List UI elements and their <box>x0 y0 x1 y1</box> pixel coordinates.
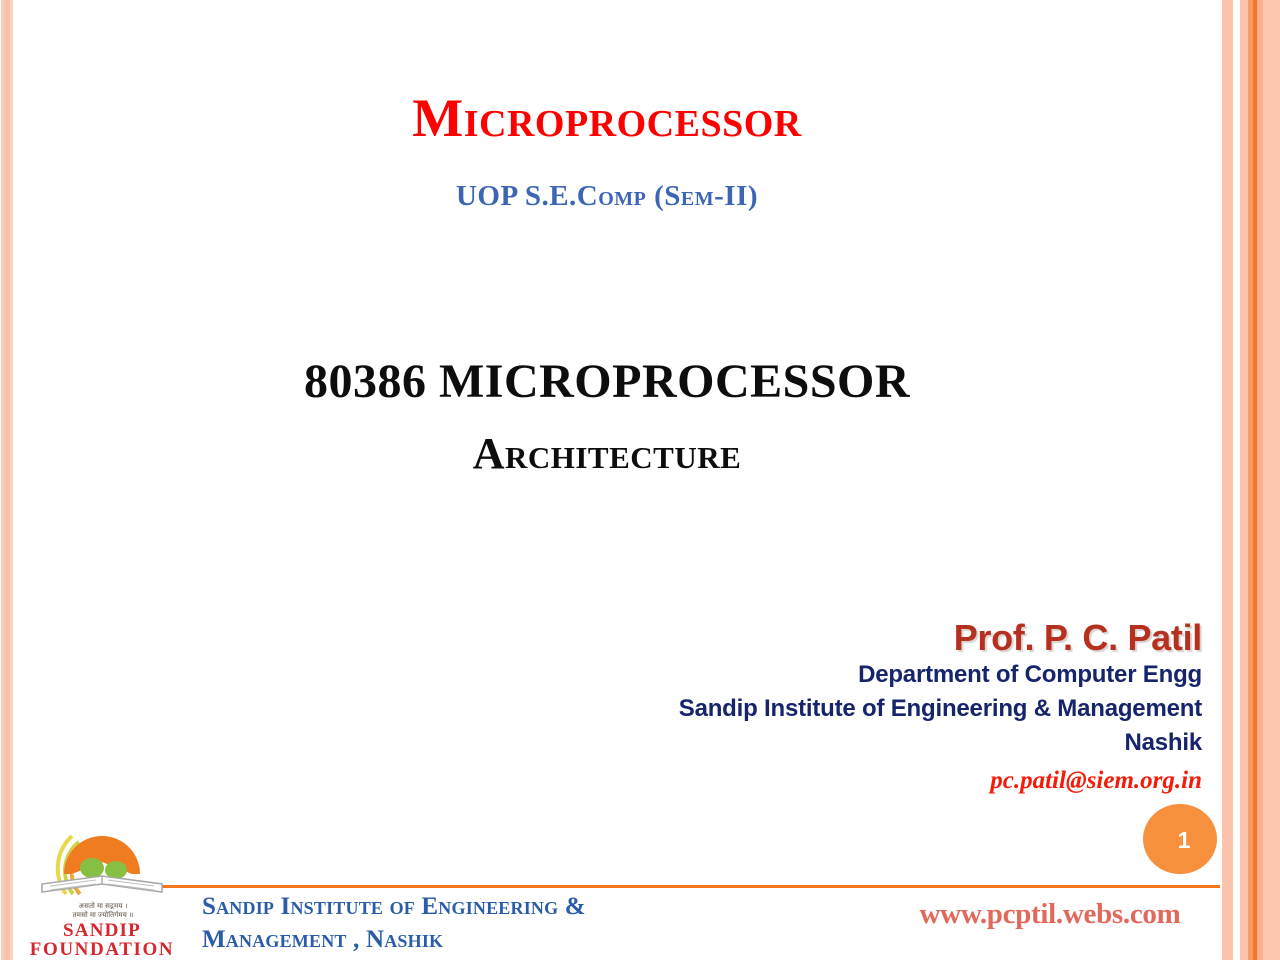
page-number-value: 1 <box>1170 825 1191 854</box>
topic-heading-line-1: 80386 MICROPROCESSOR <box>0 354 1214 409</box>
logo-sanskrit-motto: असतो मा सद्गमय । तमसो मा ज्योतिर्गमय ॥ <box>48 902 158 921</box>
footer-institute-name: Sandip Institute of Engineering & Manage… <box>202 890 762 956</box>
slide-title: Microprocessor <box>0 90 1214 147</box>
presenter-department: Department of Computer Engg <box>502 658 1202 692</box>
presenter-institute: Sandip Institute of Engineering & Manage… <box>502 692 1202 726</box>
topic-heading-line-2: Architecture <box>0 428 1214 479</box>
logo-emblem-icon <box>26 812 178 908</box>
presenter-block: Prof. P. C. Patil Department of Computer… <box>502 618 1202 798</box>
sandip-foundation-logo: असतो मा सद्गमय । तमसो मा ज्योतिर्गमय ॥ S… <box>26 812 178 956</box>
presenter-email[interactable]: pc.patil@siem.org.in <box>502 763 1202 798</box>
logo-wordmark-foundation: FOUNDATION <box>26 939 178 960</box>
footer-website[interactable]: www.pcptil.webs.com <box>880 898 1220 931</box>
presenter-name: Prof. P. C. Patil <box>502 618 1202 658</box>
footer-institute-line-2: Management , Nashik <box>202 923 762 956</box>
right-edge-stripe-6 <box>1263 0 1280 960</box>
presenter-city: Nashik <box>502 726 1202 760</box>
presentation-slide: Microprocessor UOP S.E.Comp (Sem-II) 803… <box>0 0 1280 960</box>
footer-divider <box>148 885 1220 888</box>
page-number-badge: 1 <box>1143 804 1217 874</box>
right-edge-stripe-1 <box>1222 0 1233 960</box>
footer-institute-line-1: Sandip Institute of Engineering & <box>202 890 762 923</box>
slide-subtitle: UOP S.E.Comp (Sem-II) <box>0 180 1214 213</box>
